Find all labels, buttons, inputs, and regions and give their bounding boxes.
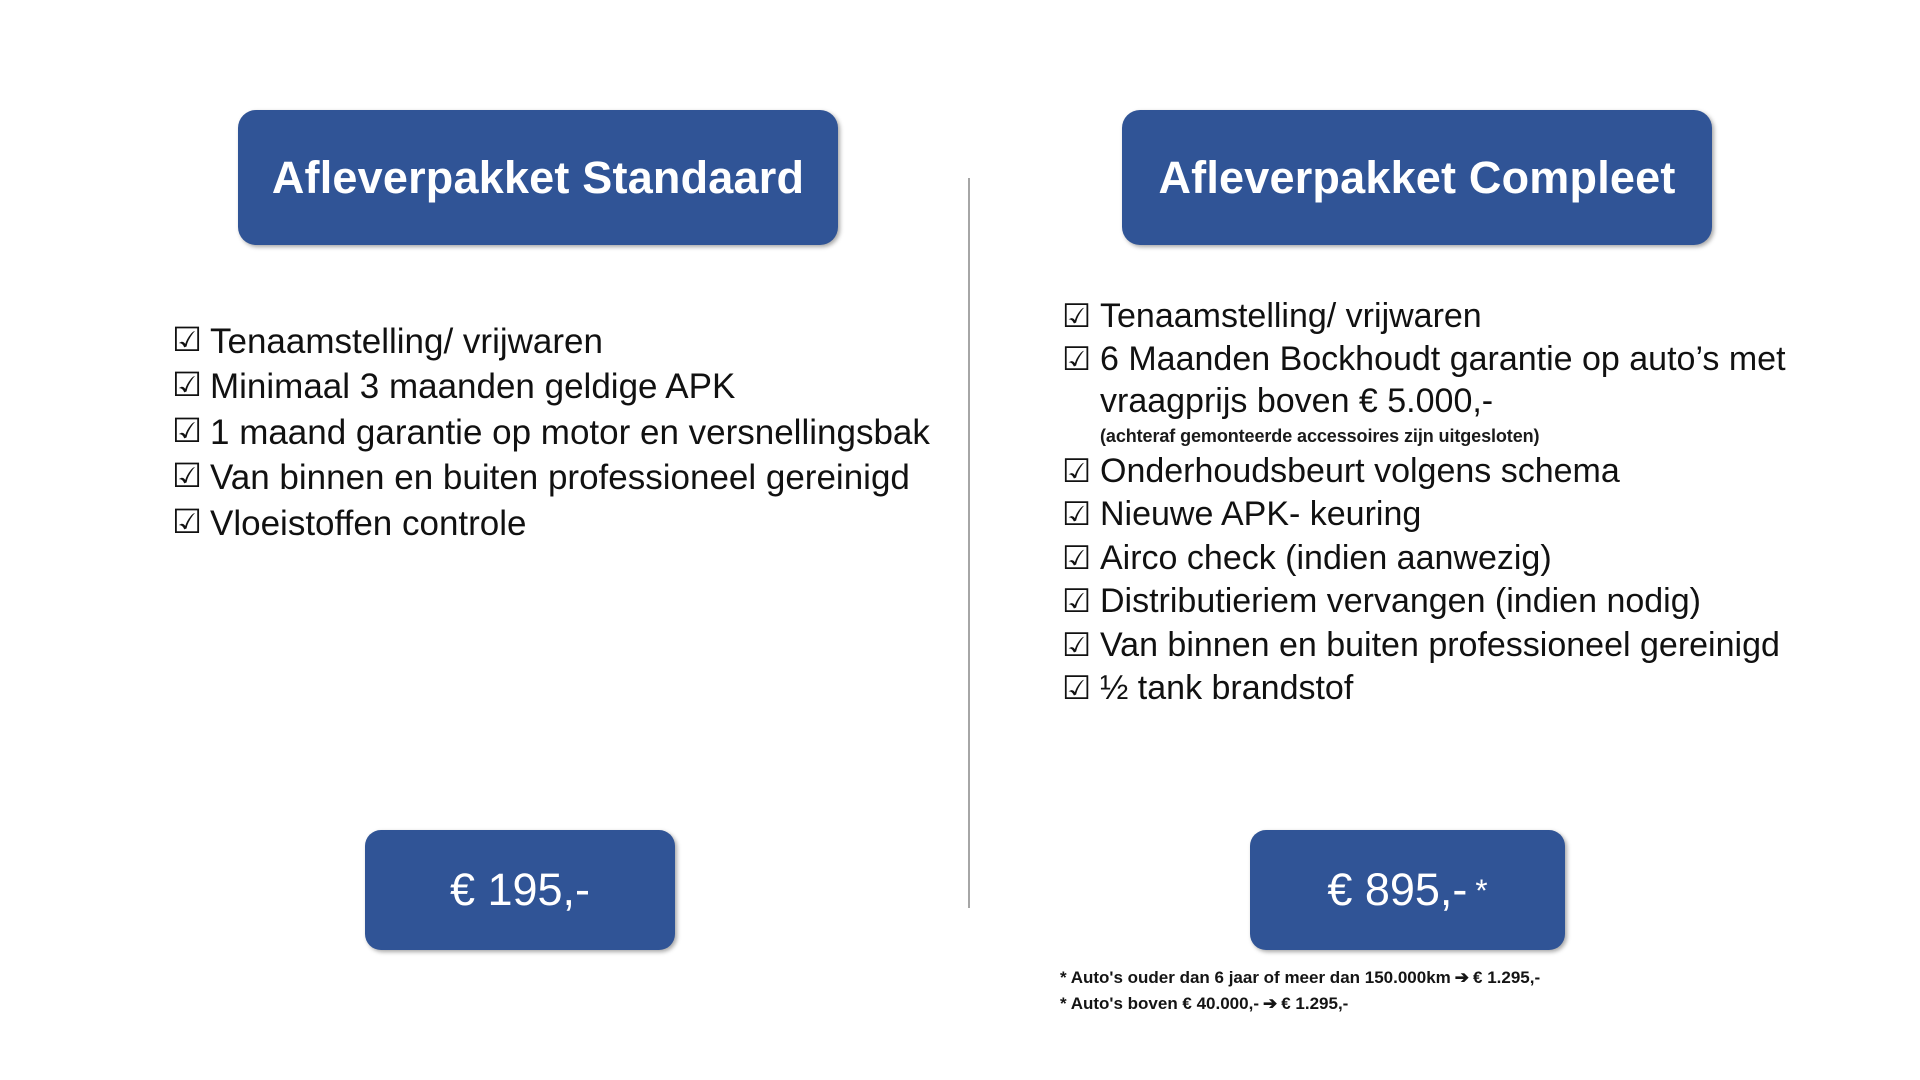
price-value-standaard: € 195,- — [450, 864, 590, 916]
list-item-label: Vloeistoffen controle — [210, 502, 932, 545]
list-item-label: Nieuwe APK- keuring — [1100, 494, 1852, 535]
checkbox-checked-icon: ☑ — [1062, 668, 1100, 708]
price-badge-compleet: € 895,-* — [1250, 830, 1565, 950]
list-item: ☑ Minimaal 3 maanden geldige APK — [172, 365, 932, 408]
price-asterisk: * — [1475, 872, 1487, 909]
checkbox-checked-icon: ☑ — [172, 411, 210, 453]
footnote-prefix: * Auto's ouder dan 6 jaar of meer dan 15… — [1060, 968, 1451, 987]
checkbox-checked-icon: ☑ — [172, 365, 210, 407]
checkbox-checked-icon: ☑ — [172, 502, 210, 544]
arrow-right-icon: ➔ — [1259, 994, 1281, 1013]
list-item: ☑ 1 maand garantie op motor en versnelli… — [172, 411, 932, 454]
list-item: ☑ Tenaamstelling/ vrijwaren — [1062, 296, 1852, 337]
list-item-label: Van binnen en buiten professioneel gerei… — [1100, 625, 1852, 666]
checkbox-checked-icon: ☑ — [1062, 581, 1100, 621]
list-item: ☑ Airco check (indien aanwezig) — [1062, 538, 1852, 579]
slide-canvas: Afleverpakket Standaard ☑ Tenaamstelling… — [0, 0, 1920, 1080]
list-item-label: ½ tank brandstof — [1100, 668, 1852, 709]
checkbox-checked-icon: ☑ — [1062, 625, 1100, 665]
package-header-standaard: Afleverpakket Standaard — [238, 110, 838, 245]
package-header-compleet-label: Afleverpakket Compleet — [1158, 152, 1675, 204]
arrow-right-icon: ➔ — [1451, 968, 1473, 987]
list-item-label: Onderhoudsbeurt volgens schema — [1100, 451, 1852, 492]
list-item-label: 1 maand garantie op motor en versnelling… — [210, 411, 932, 454]
checkbox-checked-icon: ☑ — [172, 456, 210, 498]
checkbox-checked-icon: ☑ — [1062, 538, 1100, 578]
price-badge-standaard: € 195,- — [365, 830, 675, 950]
footnotes: * Auto's ouder dan 6 jaar of meer dan 15… — [1060, 965, 1840, 1016]
column-divider — [968, 178, 970, 908]
list-item-text: 6 Maanden Bockhoudt garantie op auto’s m… — [1100, 340, 1786, 419]
list-item-label: Van binnen en buiten professioneel gerei… — [210, 456, 932, 499]
list-item: ☑ Van binnen en buiten professioneel ger… — [172, 456, 932, 499]
feature-list-compleet: ☑ Tenaamstelling/ vrijwaren ☑ 6 Maanden … — [1062, 296, 1852, 712]
checkbox-checked-icon: ☑ — [1062, 451, 1100, 491]
list-item: ☑ Distributieriem vervangen (indien nodi… — [1062, 581, 1852, 622]
footnote-line: * Auto's ouder dan 6 jaar of meer dan 15… — [1060, 965, 1840, 991]
list-item-label: Minimaal 3 maanden geldige APK — [210, 365, 932, 408]
list-item: ☑ Nieuwe APK- keuring — [1062, 494, 1852, 535]
checkbox-checked-icon: ☑ — [1062, 494, 1100, 534]
list-item: ☑ Onderhoudsbeurt volgens schema — [1062, 451, 1852, 492]
list-item-label: 6 Maanden Bockhoudt garantie op auto’s m… — [1100, 339, 1852, 448]
list-item-label: Tenaamstelling/ vrijwaren — [210, 320, 932, 363]
package-header-standaard-label: Afleverpakket Standaard — [272, 152, 804, 204]
list-item-sub-note: (achteraf gemonteerde accessoires zijn u… — [1100, 424, 1852, 448]
feature-list-standaard: ☑ Tenaamstelling/ vrijwaren ☑ Minimaal 3… — [172, 320, 932, 547]
list-item: ☑ Van binnen en buiten professioneel ger… — [1062, 625, 1852, 666]
checkbox-checked-icon: ☑ — [1062, 296, 1100, 336]
list-item-label: Distributieriem vervangen (indien nodig) — [1100, 581, 1852, 622]
checkbox-checked-icon: ☑ — [1062, 339, 1100, 379]
list-item: ☑ Vloeistoffen controle — [172, 502, 932, 545]
price-value-compleet: € 895,- — [1327, 864, 1467, 916]
list-item: ☑ ½ tank brandstof — [1062, 668, 1852, 709]
footnote-prefix: * Auto's boven € 40.000,- — [1060, 994, 1259, 1013]
package-header-compleet: Afleverpakket Compleet — [1122, 110, 1712, 245]
list-item: ☑ Tenaamstelling/ vrijwaren — [172, 320, 932, 363]
list-item-label: Tenaamstelling/ vrijwaren — [1100, 296, 1852, 337]
checkbox-checked-icon: ☑ — [172, 320, 210, 362]
list-item: ☑ 6 Maanden Bockhoudt garantie op auto’s… — [1062, 339, 1852, 448]
footnote-value: € 1.295,- — [1473, 968, 1540, 987]
footnote-line: * Auto's boven € 40.000,-➔€ 1.295,- — [1060, 991, 1840, 1017]
package-column-compleet: Afleverpakket Compleet ☑ Tenaamstelling/… — [1040, 0, 1860, 1080]
footnote-value: € 1.295,- — [1281, 994, 1348, 1013]
package-column-standaard: Afleverpakket Standaard ☑ Tenaamstelling… — [150, 0, 950, 1080]
list-item-label: Airco check (indien aanwezig) — [1100, 538, 1852, 579]
